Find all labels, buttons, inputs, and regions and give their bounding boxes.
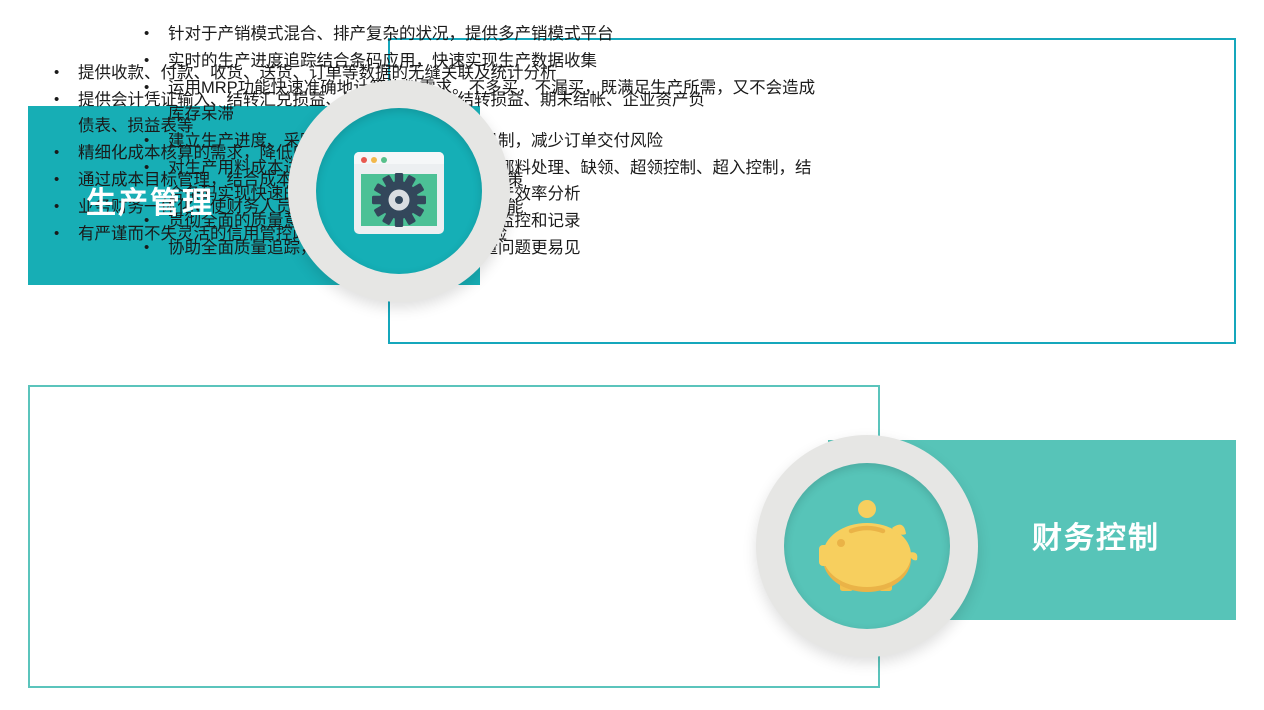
finance-text-panel [28,385,880,688]
finance-title: 财务控制 [1032,513,1160,557]
slide-canvas: 生产管理 [0,0,1264,710]
browser-gear-icon [288,80,510,302]
finance-badge [756,435,978,657]
piggy-bank-icon [756,435,978,657]
production-title: 生产管理 [86,178,214,222]
production-badge [288,80,510,302]
list-item: 针对于产销模式混合、排产复杂的状况，提供多产销模式平台 [138,21,818,47]
